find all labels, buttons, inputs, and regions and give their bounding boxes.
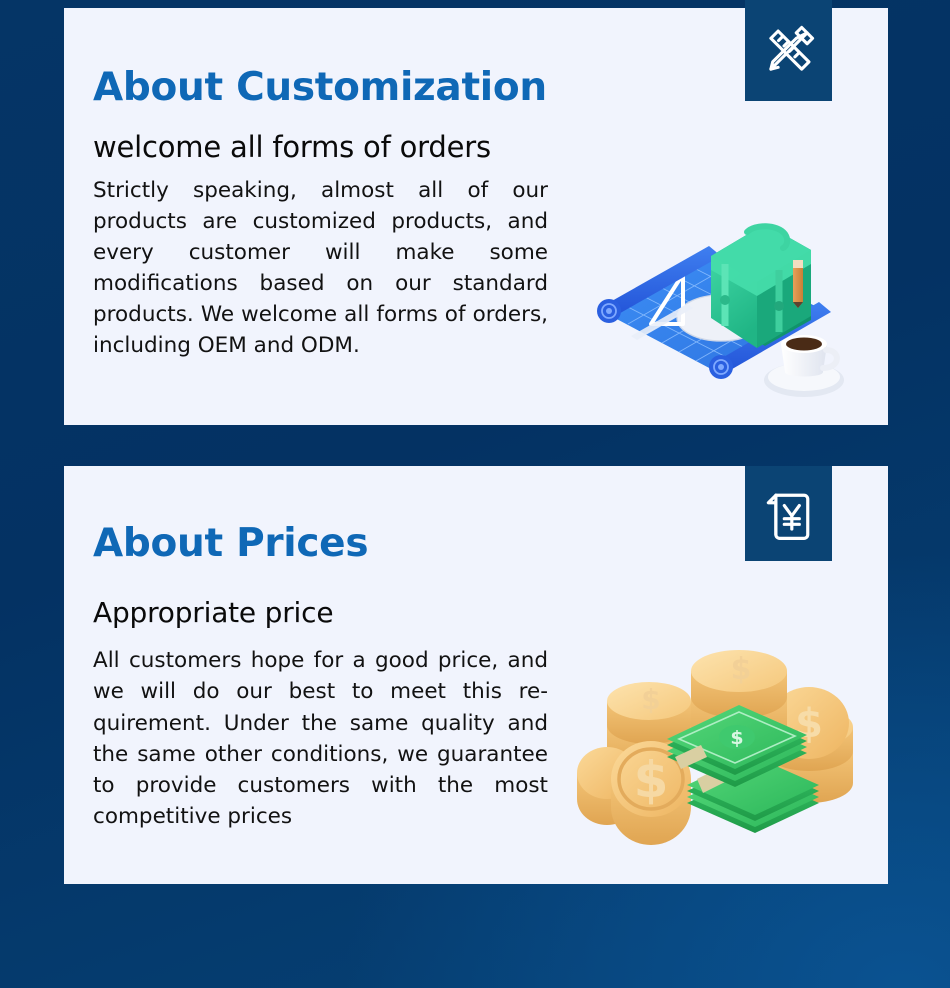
body-text-customization: Strictly speaking, almost all of our pro…: [93, 176, 548, 362]
page-title-prices: About Prices: [93, 524, 553, 563]
svg-text:$: $: [634, 751, 669, 809]
invoice-yen-icon: [762, 484, 816, 544]
coins-and-cash-illustration: $ $: [569, 631, 869, 846]
body-text-prices: All customers hope for a good price, and…: [93, 645, 548, 832]
promo-page: About Customization welcome all forms of…: [0, 0, 950, 988]
invoice-yen-icon-badge: [745, 466, 832, 561]
ruler-pencil-icon-badge: [745, 0, 832, 101]
subheading-customization: welcome all forms of orders: [93, 131, 553, 164]
blueprint-briefcase-coffee-illustration: [569, 148, 859, 398]
subheading-prices: Appropriate price: [93, 597, 553, 629]
page-title-customization: About Customization: [93, 68, 553, 107]
customization-text-column: About Customization welcome all forms of…: [93, 68, 553, 362]
svg-text:$: $: [731, 652, 752, 687]
card-about-customization: About Customization welcome all forms of…: [64, 8, 888, 425]
prices-text-column: About Prices Appropriate price All custo…: [93, 524, 553, 832]
svg-text:$: $: [641, 683, 660, 716]
card-about-prices: About Prices Appropriate price All custo…: [64, 466, 888, 884]
ruler-pencil-icon: [760, 22, 818, 80]
svg-text:$: $: [730, 727, 743, 749]
